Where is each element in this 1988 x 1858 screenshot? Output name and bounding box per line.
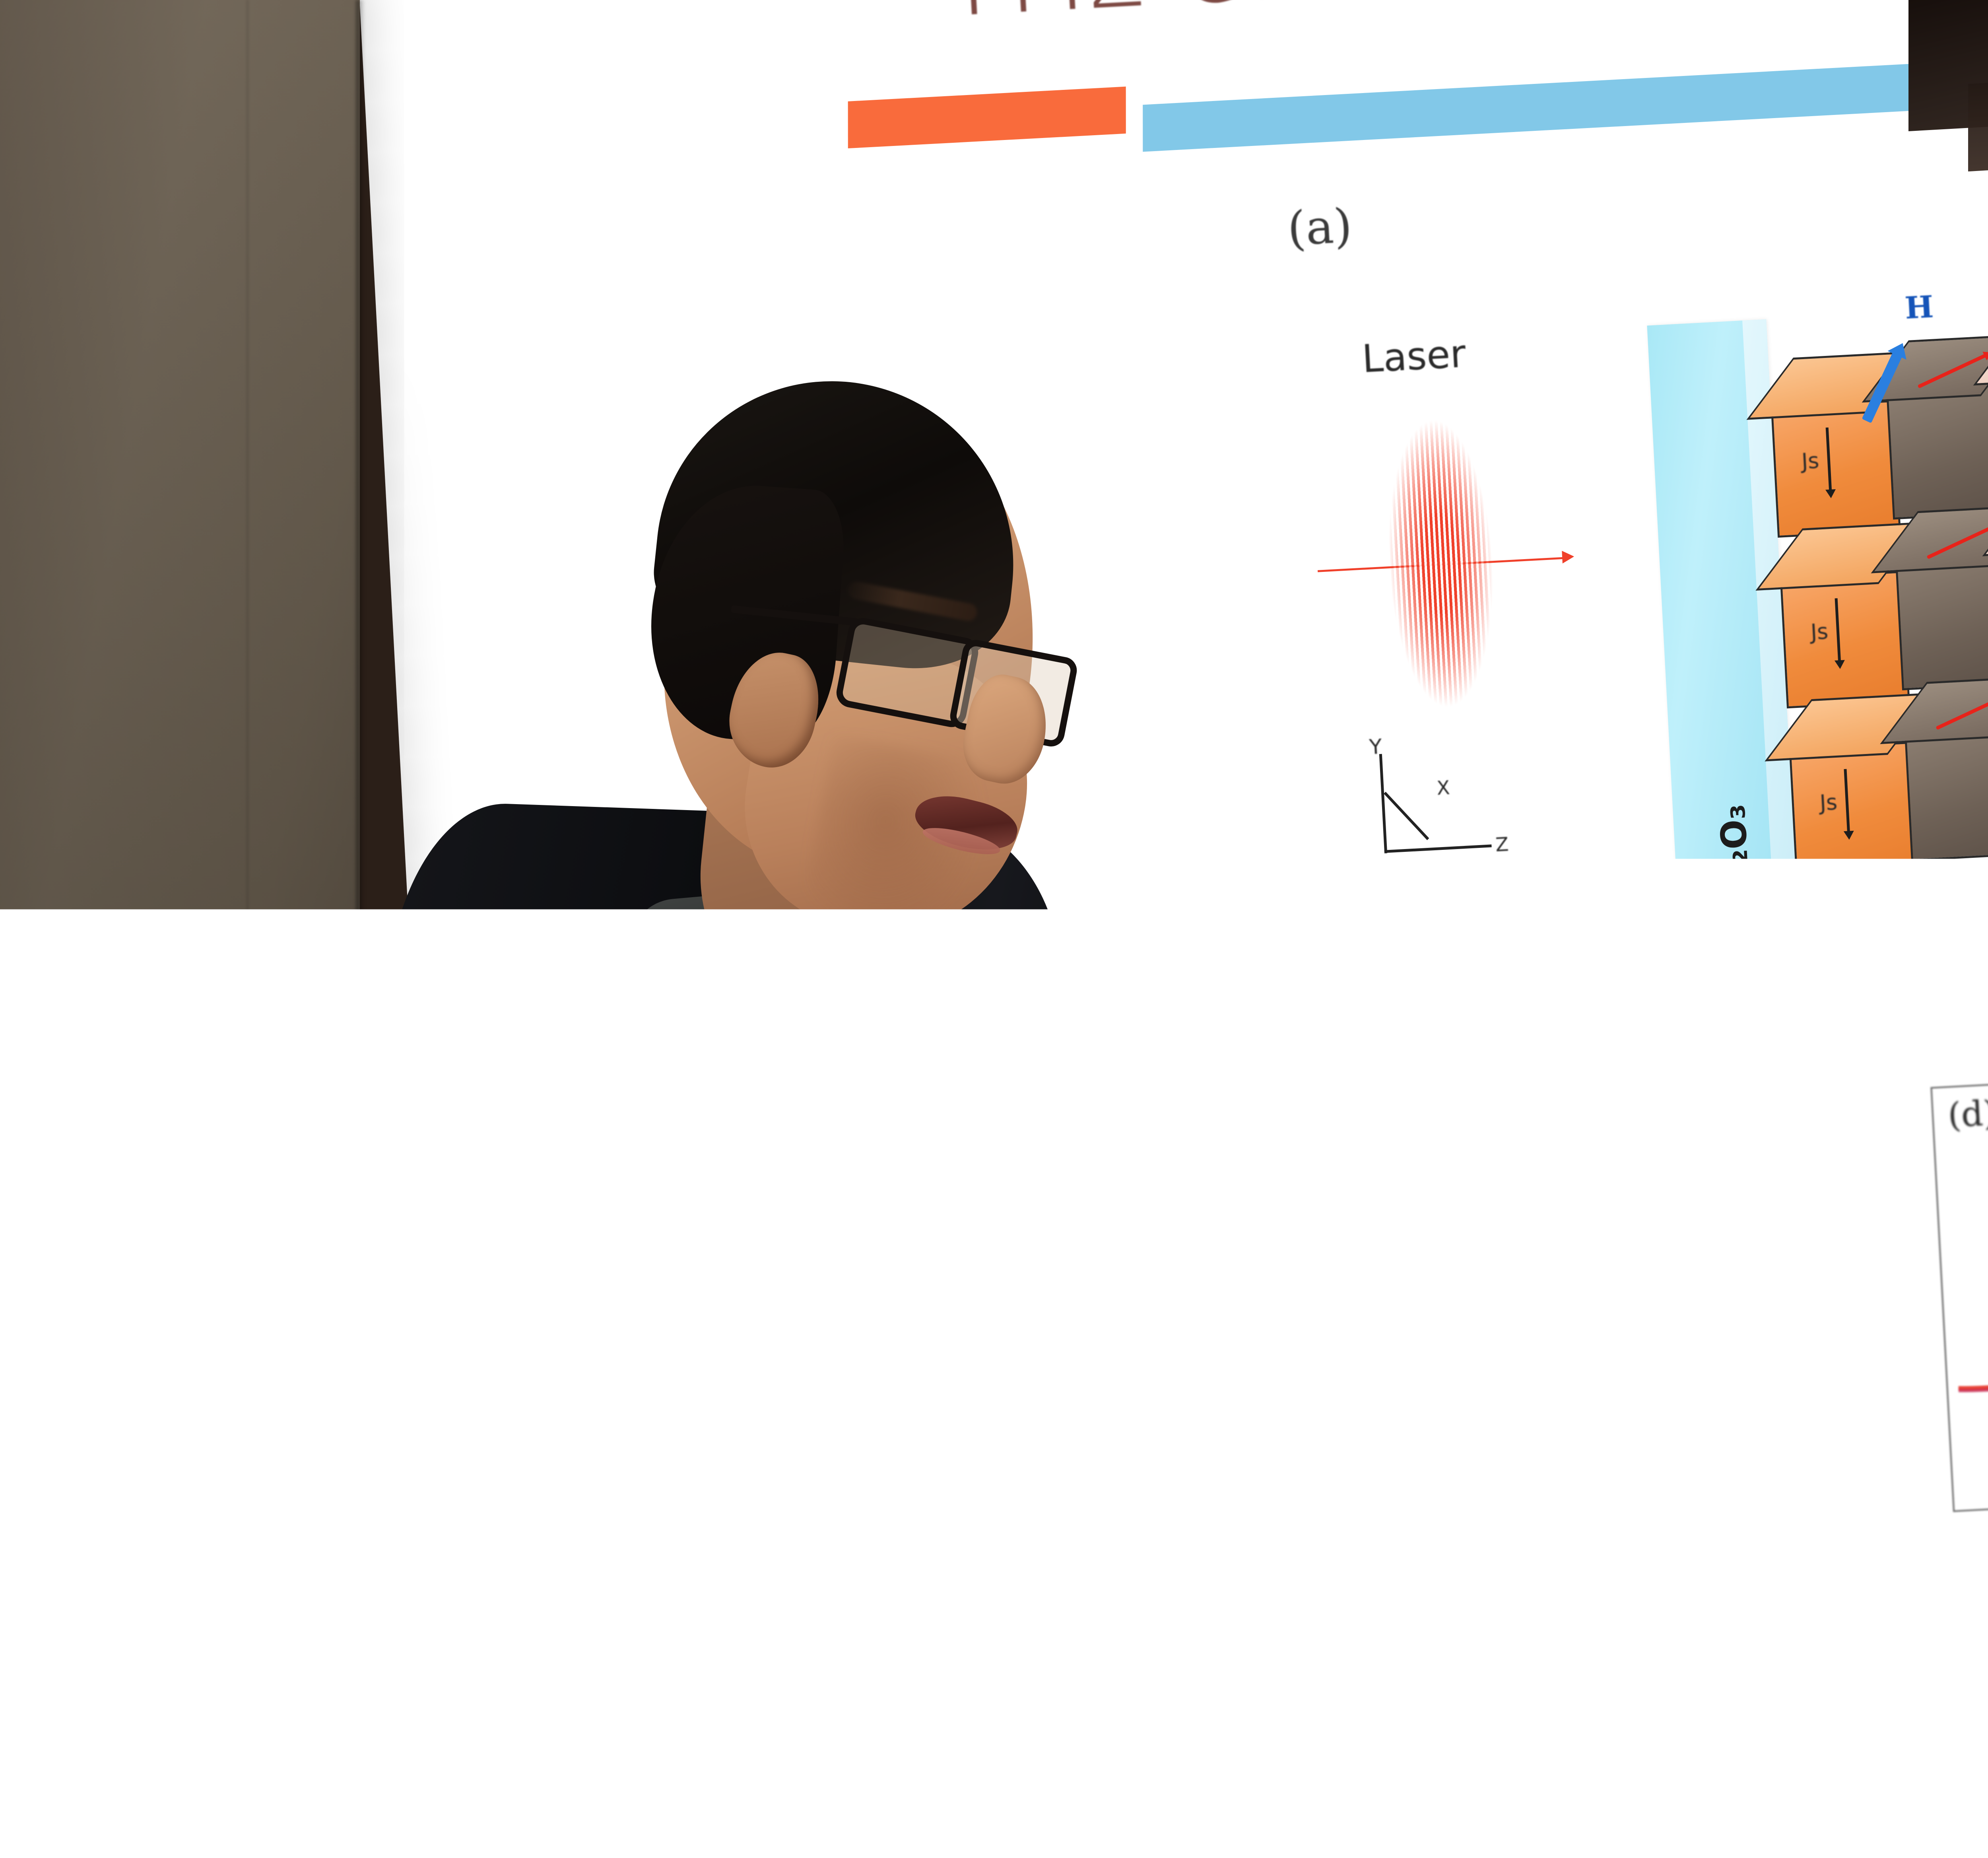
panel-a-laser-pulse <box>1309 382 1573 745</box>
panel-a-material-fe: Fe <box>1920 898 1957 935</box>
panel-a-H-label: H <box>1904 289 1934 326</box>
emblem-star-1 <box>1783 1469 1817 1487</box>
panel-a-axis-x-label: X <box>1436 777 1450 800</box>
emblem-star-2 <box>1830 1487 1867 1502</box>
panel-a-substrate-label: Al₂O₃ <box>1712 803 1758 905</box>
presentation-photo-scene: THz emission from FM/HM (a) Laser Y X Z … <box>0 0 1988 1858</box>
floor-strip <box>0 1810 1988 1858</box>
panel-a-film-stack: M Js M Js M Js <box>1755 305 1988 896</box>
panel-a-coordinate-axes: Y X Z <box>1355 739 1521 878</box>
title-accent-bar-orange <box>848 87 1126 148</box>
panel-a-material-pt: Pt <box>1817 908 1850 946</box>
emblem-center-bar <box>1837 1356 1858 1476</box>
panel-a-axis-z-label: Z <box>1495 833 1509 856</box>
panel-a-label: (a) <box>1286 198 1354 256</box>
left-wall <box>0 0 360 1858</box>
panel-a-js-label-1: Js <box>1801 448 1819 474</box>
podium-cable-2 <box>1813 1189 1988 1292</box>
panel-a-laser-label: Laser <box>1361 331 1467 381</box>
panel-a-js-label-2: Js <box>1810 619 1829 645</box>
panel-a-axis-y-label: Y <box>1369 735 1382 760</box>
podium-cable-1 <box>1873 1253 1988 1650</box>
panel-a-js-label-3: Js <box>1819 789 1838 815</box>
title-accent-bar-blue <box>1143 10 1988 152</box>
emblem-star-4 <box>1811 1514 1840 1527</box>
slide-title: THz emission from FM/HM <box>937 0 1988 33</box>
